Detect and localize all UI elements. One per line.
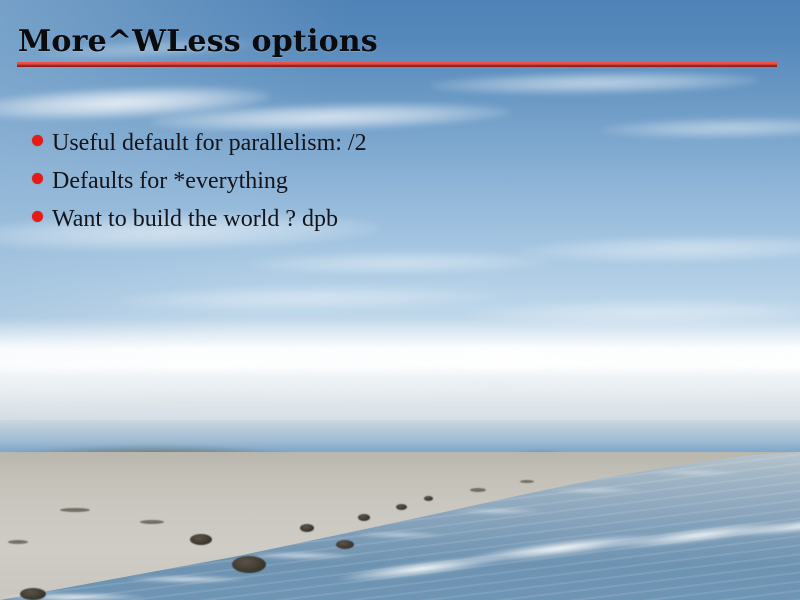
title-underline-rule (17, 62, 777, 67)
bullet-dot-icon (32, 211, 43, 222)
bullet-item-label: Want to build the world ? dpb (52, 204, 338, 234)
bullet-item-label: Defaults for *everything (52, 166, 288, 196)
bullet-item: Defaults for *everything (32, 166, 752, 200)
bullet-dot-icon (32, 173, 43, 184)
slide-title: More^WLess options (18, 24, 378, 59)
slide-content: More^WLess options Useful default for pa… (0, 0, 800, 600)
bullet-item-label: Useful default for parallelism: /2 (52, 128, 367, 158)
bullet-item: Useful default for parallelism: /2 (32, 128, 752, 162)
slide: More^WLess options Useful default for pa… (0, 0, 800, 600)
bullet-list: Useful default for parallelism: /2 Defau… (32, 128, 752, 242)
bullet-item: Want to build the world ? dpb (32, 204, 752, 238)
bullet-dot-icon (32, 135, 43, 146)
